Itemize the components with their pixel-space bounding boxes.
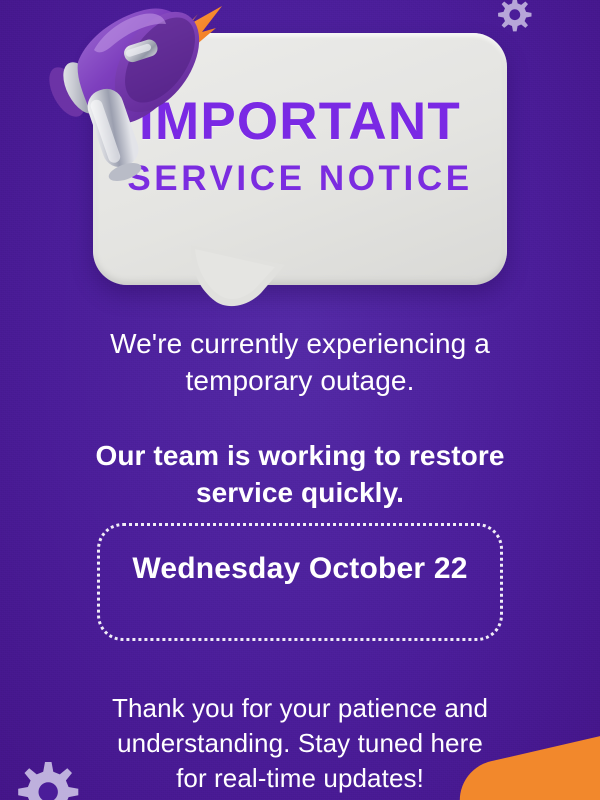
restore-statement-line1: Our team is working to restore: [95, 440, 504, 471]
footer-line1: Thank you for your patience and: [112, 693, 488, 723]
outage-statement-line2: temporary outage.: [186, 365, 415, 396]
restore-statement: Our team is working to restore service q…: [75, 437, 525, 511]
outage-statement: We're currently experiencing a temporary…: [85, 326, 515, 400]
footer-line2: understanding. Stay tuned here: [117, 728, 483, 758]
outage-date: Wednesday October 22: [100, 552, 500, 586]
footer-line3: for real-time updates!: [176, 763, 424, 793]
outage-statement-line1: We're currently experiencing a: [110, 328, 490, 359]
footer-message: Thank you for your patience and understa…: [65, 691, 535, 795]
service-notice-poster: IMPORTANT SERVICE NOTICE: [0, 0, 600, 800]
restore-statement-line2: service quickly.: [196, 477, 404, 508]
body-copy-block: We're currently experiencing a temporary…: [0, 326, 600, 511]
megaphone-icon: [26, 0, 241, 182]
date-callout-box: Wednesday October 22: [97, 523, 503, 641]
